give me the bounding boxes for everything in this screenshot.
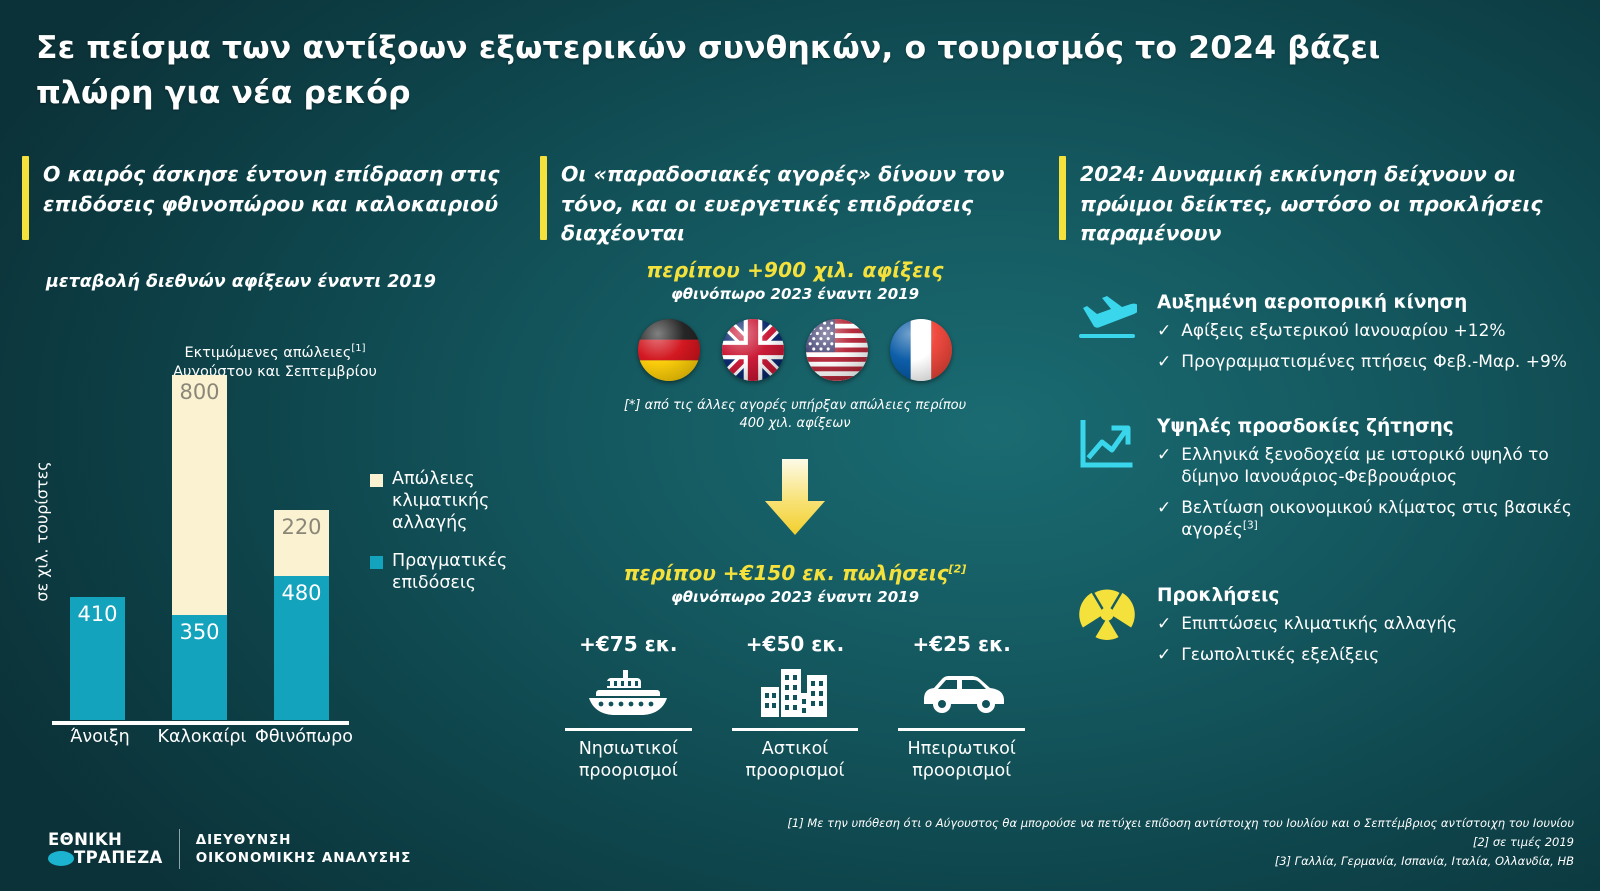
chart-title: μεταβολή διεθνών αφίξεων έναντι 2019 bbox=[46, 272, 436, 292]
accent-bar bbox=[540, 156, 547, 240]
outlook-bullet: ✓ Προγραμματισμένες πτήσεις Φεβ.-Μαρ. +9… bbox=[1157, 351, 1590, 373]
destination-label-line2: προορισμοί bbox=[912, 761, 1011, 781]
outlook-block-title: Αυξημένη αεροπορική κίνηση bbox=[1157, 292, 1590, 313]
legend-swatch bbox=[370, 556, 383, 569]
radiation-icon bbox=[1075, 585, 1139, 675]
bar-segment-real: 410 bbox=[70, 597, 125, 720]
destination-label: Αστικοί προορισμοί bbox=[712, 739, 879, 783]
section-header-weather: Ο καιρός άσκησε έντονη επίδραση στις επι… bbox=[22, 154, 522, 240]
outlook-bullet: ✓ Βελτίωση οικονομικού κλίματος στις βασ… bbox=[1157, 497, 1590, 541]
section-header-label: Οι «παραδοσιακές αγορές» δίνουν τον τόνο… bbox=[561, 154, 1040, 249]
bar-segment-real: 480 bbox=[274, 576, 329, 720]
section-header-markets: Οι «παραδοσιακές αγορές» δίνουν τον τόνο… bbox=[540, 154, 1040, 249]
sales-headline-text: περίπου +€150 εκ. πωλήσεις bbox=[624, 561, 949, 585]
destination-label-line2: προορισμοί bbox=[579, 761, 678, 781]
legend-label-line1: Απώλειες bbox=[392, 469, 475, 489]
outlook-bullet-sup: [3] bbox=[1243, 520, 1258, 532]
bank-logo-wordmark: ΕΘΝΙΚΗ ΤΡΑΠΕΖΑ bbox=[48, 831, 163, 868]
outlook-bullet-main: Βελτίωση οικονομικού κλίματος στις βασικ… bbox=[1181, 498, 1572, 540]
outlook-panel: Αυξημένη αεροπορική κίνηση ✓ Αφίξεις εξω… bbox=[1075, 292, 1590, 697]
legend-label-line3: αλλαγής bbox=[392, 513, 468, 533]
x-tick-autumn: Φθινόπωρο bbox=[244, 727, 364, 747]
department-line2: ΟΙΚΟΝΟΜΙΚΗΣ ΑΝΑΛΥΣΗΣ bbox=[196, 849, 412, 867]
outlook-block-air-traffic: Αυξημένη αεροπορική κίνηση ✓ Αφίξεις εξω… bbox=[1075, 292, 1590, 382]
source-markets-flags bbox=[545, 319, 1045, 381]
chart-plot-area: 410 800 350 220 480 bbox=[52, 376, 347, 720]
check-icon: ✓ bbox=[1157, 351, 1171, 373]
department-line1: ΔΙΕΥΘΥΝΣΗ bbox=[196, 831, 412, 849]
legend-label-line2: επιδόσεις bbox=[392, 573, 476, 593]
destination-value: +€25 εκ. bbox=[878, 632, 1045, 656]
markets-panel: περίπου +900 χιλ. αφίξεις φθινόπωρο 2023… bbox=[545, 258, 1045, 783]
destination-divider bbox=[898, 728, 1025, 731]
outlook-bullet: ✓ Ελληνικά ξενοδοχεία με ιστορικό υψηλό … bbox=[1157, 444, 1590, 488]
bar-value-label: 350 bbox=[172, 620, 227, 644]
usa-flag-icon bbox=[806, 319, 868, 381]
bar-segment-loss: 800 bbox=[172, 375, 227, 615]
section-header-label: 2024: Δυναμική εκκίνηση δείχνουν οι πρώι… bbox=[1080, 154, 1579, 249]
legend-label: Απώλειες κλιματικής αλλαγής bbox=[392, 468, 489, 534]
check-icon: ✓ bbox=[1157, 444, 1171, 488]
bar-value-label: 220 bbox=[274, 515, 329, 539]
outlook-bullet: ✓ Γεωπολιτικές εξελίξεις bbox=[1157, 644, 1590, 666]
destination-value: +€50 εκ. bbox=[712, 632, 879, 656]
footnote-1: [1] Με την υπόθεση ότι ο Αύγουστος θα μπ… bbox=[787, 814, 1574, 833]
markets-footnote-line1: [*] από τις άλλες αγορές υπήρξαν απώλειε… bbox=[624, 398, 966, 413]
outlook-bullet-text: Επιπτώσεις κλιματικής αλλαγής bbox=[1181, 613, 1457, 635]
check-icon: ✓ bbox=[1157, 320, 1171, 342]
down-arrow-container bbox=[545, 459, 1045, 537]
outlook-bullet: ✓ Αφίξεις εξωτερικού Ιανουαρίου +12% bbox=[1157, 320, 1590, 342]
ship-icon bbox=[545, 662, 712, 724]
destination-label: Ηπειρωτικοί προορισμοί bbox=[878, 739, 1045, 783]
germany-flag-icon bbox=[638, 319, 700, 381]
accent-bar bbox=[1059, 156, 1066, 240]
destination-label: Νησιωτικοί προορισμοί bbox=[545, 739, 712, 783]
outlook-block-challenges: Προκλήσεις ✓ Επιπτώσεις κλιματικής αλλαγ… bbox=[1075, 585, 1590, 675]
destination-value: +€75 εκ. bbox=[545, 632, 712, 656]
outlook-block-body: Αυξημένη αεροπορική κίνηση ✓ Αφίξεις εξω… bbox=[1157, 292, 1590, 382]
chart-legend: Απώλειες κλιματικής αλλαγής Πραγματικές … bbox=[370, 468, 530, 610]
sales-headline-sup: [2] bbox=[949, 563, 967, 576]
outlook-bullet: ✓ Επιπτώσεις κλιματικής αλλαγής bbox=[1157, 613, 1590, 635]
destination-breakdown: +€75 εκ. Νησιωτ bbox=[545, 632, 1045, 783]
outlook-bullet-text: Βελτίωση οικονομικού κλίματος στις βασικ… bbox=[1181, 497, 1590, 541]
sales-subline: φθινόπωρο 2023 έναντι 2019 bbox=[545, 588, 1045, 606]
bar-column-autumn: 220 480 bbox=[274, 510, 329, 720]
destination-divider bbox=[565, 728, 692, 731]
destination-mainland: +€25 εκ. Ηπειρωτικοί προορισμοί bbox=[878, 632, 1045, 783]
check-icon: ✓ bbox=[1157, 644, 1171, 666]
airplane-landing-icon bbox=[1075, 292, 1139, 382]
outlook-bullet-text: Ελληνικά ξενοδοχεία με ιστορικό υψηλό το… bbox=[1181, 444, 1590, 488]
france-flag-icon bbox=[890, 319, 952, 381]
chart-annotation-sup: [1] bbox=[351, 343, 365, 354]
arrivals-bar-chart: μεταβολή διεθνών αφίξεων έναντι 2019 Εκτ… bbox=[0, 272, 535, 802]
check-icon: ✓ bbox=[1157, 497, 1171, 541]
chart-x-axis bbox=[52, 721, 349, 725]
logo-divider bbox=[179, 829, 180, 869]
buildings-icon bbox=[712, 662, 879, 724]
check-icon: ✓ bbox=[1157, 613, 1171, 635]
bar-segment-real: 350 bbox=[172, 615, 227, 720]
markets-footnote-line2: 400 χιλ. αφίξεων bbox=[740, 416, 851, 431]
bar-value-label: 410 bbox=[70, 602, 125, 626]
destination-label-line1: Αστικοί bbox=[762, 739, 828, 759]
uk-flag-icon bbox=[722, 319, 784, 381]
legend-label-line2: κλιματικής bbox=[392, 491, 489, 511]
bar-value-label: 480 bbox=[274, 581, 329, 605]
section-header-label: Ο καιρός άσκησε έντονη επίδραση στις επι… bbox=[43, 154, 522, 219]
legend-label: Πραγματικές επιδόσεις bbox=[392, 550, 507, 594]
chart-y-axis-label: σε χιλ. τουρίστες bbox=[33, 442, 52, 622]
bank-logo-line1: ΕΘΝΙΚΗ bbox=[48, 831, 163, 849]
bar-column-summer: 800 350 bbox=[172, 375, 227, 720]
page-title: Σε πείσμα των αντίξοων εξωτερικών συνθηκ… bbox=[36, 26, 1456, 115]
outlook-block-title: Προκλήσεις bbox=[1157, 585, 1590, 606]
destination-divider bbox=[732, 728, 859, 731]
legend-label-line1: Πραγματικές bbox=[392, 551, 507, 571]
destination-label-line1: Ηπειρωτικοί bbox=[908, 739, 1016, 759]
bank-logo: ΕΘΝΙΚΗ ΤΡΑΠΕΖΑ ΔΙΕΥΘΥΝΣΗ ΟΙΚΟΝΟΜΙΚΗΣ ΑΝΑ… bbox=[48, 829, 411, 869]
destination-island: +€75 εκ. Νησιωτ bbox=[545, 632, 712, 783]
destination-label-line2: προορισμοί bbox=[746, 761, 845, 781]
sales-headline: περίπου +€150 εκ. πωλήσεις[2] bbox=[545, 561, 1045, 585]
accent-bar bbox=[22, 156, 29, 240]
outlook-bullet-text: Γεωπολιτικές εξελίξεις bbox=[1181, 644, 1379, 666]
outlook-bullet-text: Προγραμματισμένες πτήσεις Φεβ.-Μαρ. +9% bbox=[1181, 351, 1567, 373]
bar-value-label: 800 bbox=[172, 380, 227, 404]
footnote-3: [3] Γαλλία, Γερμανία, Ισπανία, Ιταλία, Ο… bbox=[787, 852, 1574, 871]
outlook-block-body: Υψηλές προσδοκίες ζήτησης ✓ Ελληνικά ξεν… bbox=[1157, 416, 1590, 550]
destination-urban: +€50 εκ. bbox=[712, 632, 879, 783]
footnotes: [1] Με την υπόθεση ότι ο Αύγουστος θα μπ… bbox=[787, 814, 1574, 871]
department-name: ΔΙΕΥΘΥΝΣΗ ΟΙΚΟΝΟΜΙΚΗΣ ΑΝΑΛΥΣΗΣ bbox=[196, 831, 412, 867]
chart-annotation-line1: Εκτιμώμενες απώλειες bbox=[184, 345, 351, 361]
markets-footnote: [*] από τις άλλες αγορές υπήρξαν απώλειε… bbox=[545, 397, 1045, 433]
arrivals-subline: φθινόπωρο 2023 έναντι 2019 bbox=[545, 285, 1045, 303]
legend-item-actual: Πραγματικές επιδόσεις bbox=[370, 550, 530, 594]
section-header-outlook: 2024: Δυναμική εκκίνηση δείχνουν οι πρώι… bbox=[1059, 154, 1579, 249]
growth-chart-icon bbox=[1075, 416, 1139, 550]
outlook-block-demand: Υψηλές προσδοκίες ζήτησης ✓ Ελληνικά ξεν… bbox=[1075, 416, 1590, 550]
car-icon bbox=[878, 662, 1045, 724]
bar-column-spring: 410 bbox=[70, 597, 125, 720]
down-arrow-icon bbox=[762, 459, 828, 537]
outlook-block-title: Υψηλές προσδοκίες ζήτησης bbox=[1157, 416, 1590, 437]
destination-label-line1: Νησιωτικοί bbox=[579, 739, 678, 759]
outlook-block-body: Προκλήσεις ✓ Επιπτώσεις κλιματικής αλλαγ… bbox=[1157, 585, 1590, 675]
arrivals-headline: περίπου +900 χιλ. αφίξεις bbox=[545, 258, 1045, 282]
footnote-2: [2] σε τιμές 2019 bbox=[787, 833, 1574, 852]
outlook-bullet-text: Αφίξεις εξωτερικού Ιανουαρίου +12% bbox=[1181, 320, 1505, 342]
legend-swatch bbox=[370, 474, 383, 487]
legend-item-losses: Απώλειες κλιματικής αλλαγής bbox=[370, 468, 530, 534]
bar-segment-loss: 220 bbox=[274, 510, 329, 576]
